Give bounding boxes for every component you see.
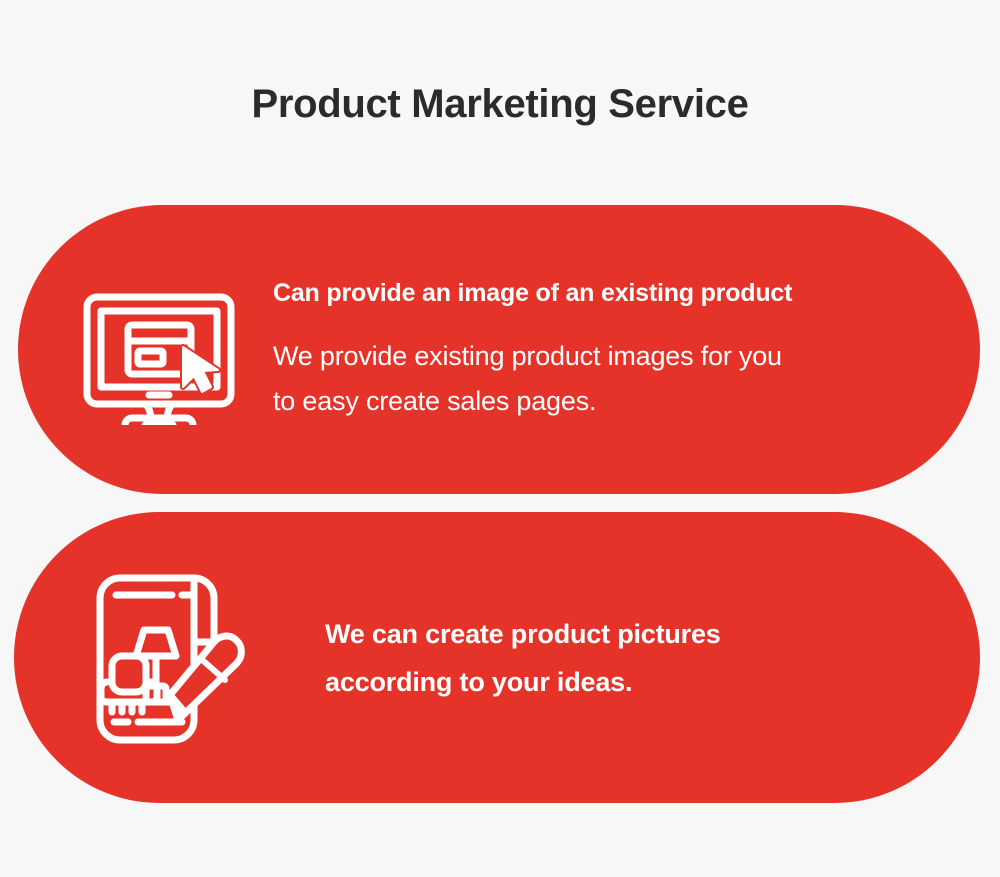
card-heading: We can create product pictures according… <box>325 610 845 706</box>
card-icon-container <box>66 275 251 425</box>
card-description-line-1: We provide existing product images for y… <box>273 334 913 379</box>
card-icon-container <box>72 570 257 745</box>
page-root: Product Marketing Service <box>0 0 1000 877</box>
card-heading-line-1: We can create product pictures <box>325 610 845 658</box>
card-description-line-2: to easy create sales pages. <box>273 379 913 424</box>
card-description: We provide existing product images for y… <box>273 334 913 424</box>
card-heading: Can provide an image of an existing prod… <box>273 276 920 310</box>
card-heading-line-2: according to your ideas. <box>325 658 845 706</box>
feature-card-existing-product: Can provide an image of an existing prod… <box>18 205 980 494</box>
card-body: We can create product pictures according… <box>325 610 980 706</box>
monitor-cursor-icon <box>79 275 239 425</box>
page-title: Product Marketing Service <box>0 78 1000 130</box>
blueprint-pencil-icon <box>82 570 247 745</box>
feature-card-custom-pictures: We can create product pictures according… <box>14 512 980 803</box>
card-body: Can provide an image of an existing prod… <box>273 276 980 424</box>
